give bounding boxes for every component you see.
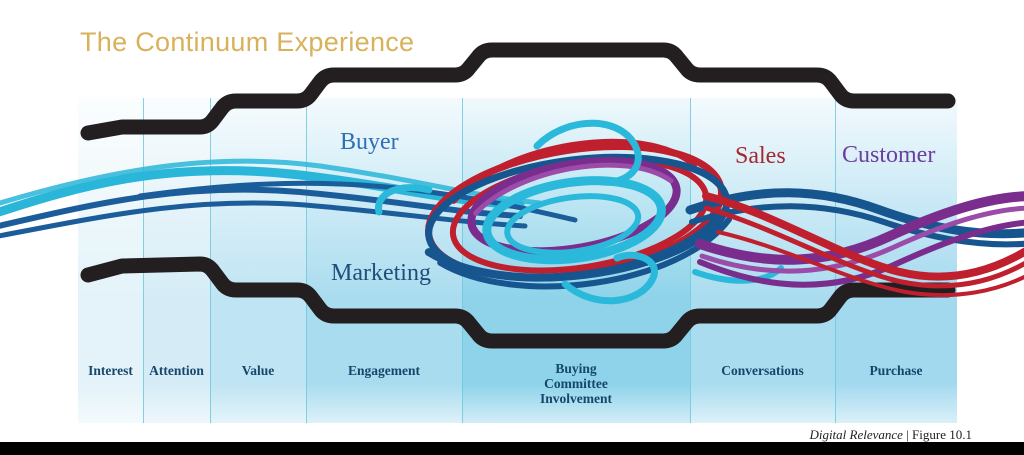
stage-caption: Conversations (690, 363, 835, 378)
credit-separator: | (906, 427, 909, 442)
stage-caption: Attention (143, 363, 210, 378)
stage-caption: Engagement (306, 363, 462, 378)
bottom-black-bar (0, 442, 1024, 455)
figure-canvas: The Continuum Experience Buyer Marketing… (0, 0, 1024, 455)
figure-credit: Digital Relevance | Figure 10.1 (809, 427, 972, 443)
role-label-customer: Customer (842, 142, 935, 169)
page-title: The Continuum Experience (80, 27, 414, 58)
role-label-marketing: Marketing (331, 260, 431, 287)
stage-caption: Purchase (835, 363, 957, 378)
stage-caption: Buying Committee Involvement (462, 361, 690, 406)
stage-caption: Value (210, 363, 306, 378)
stage-caption: Interest (78, 363, 143, 378)
role-label-buyer: Buyer (340, 129, 399, 156)
credit-figure: Figure 10.1 (912, 427, 972, 442)
role-label-sales: Sales (735, 143, 786, 170)
credit-source: Digital Relevance (809, 427, 903, 442)
